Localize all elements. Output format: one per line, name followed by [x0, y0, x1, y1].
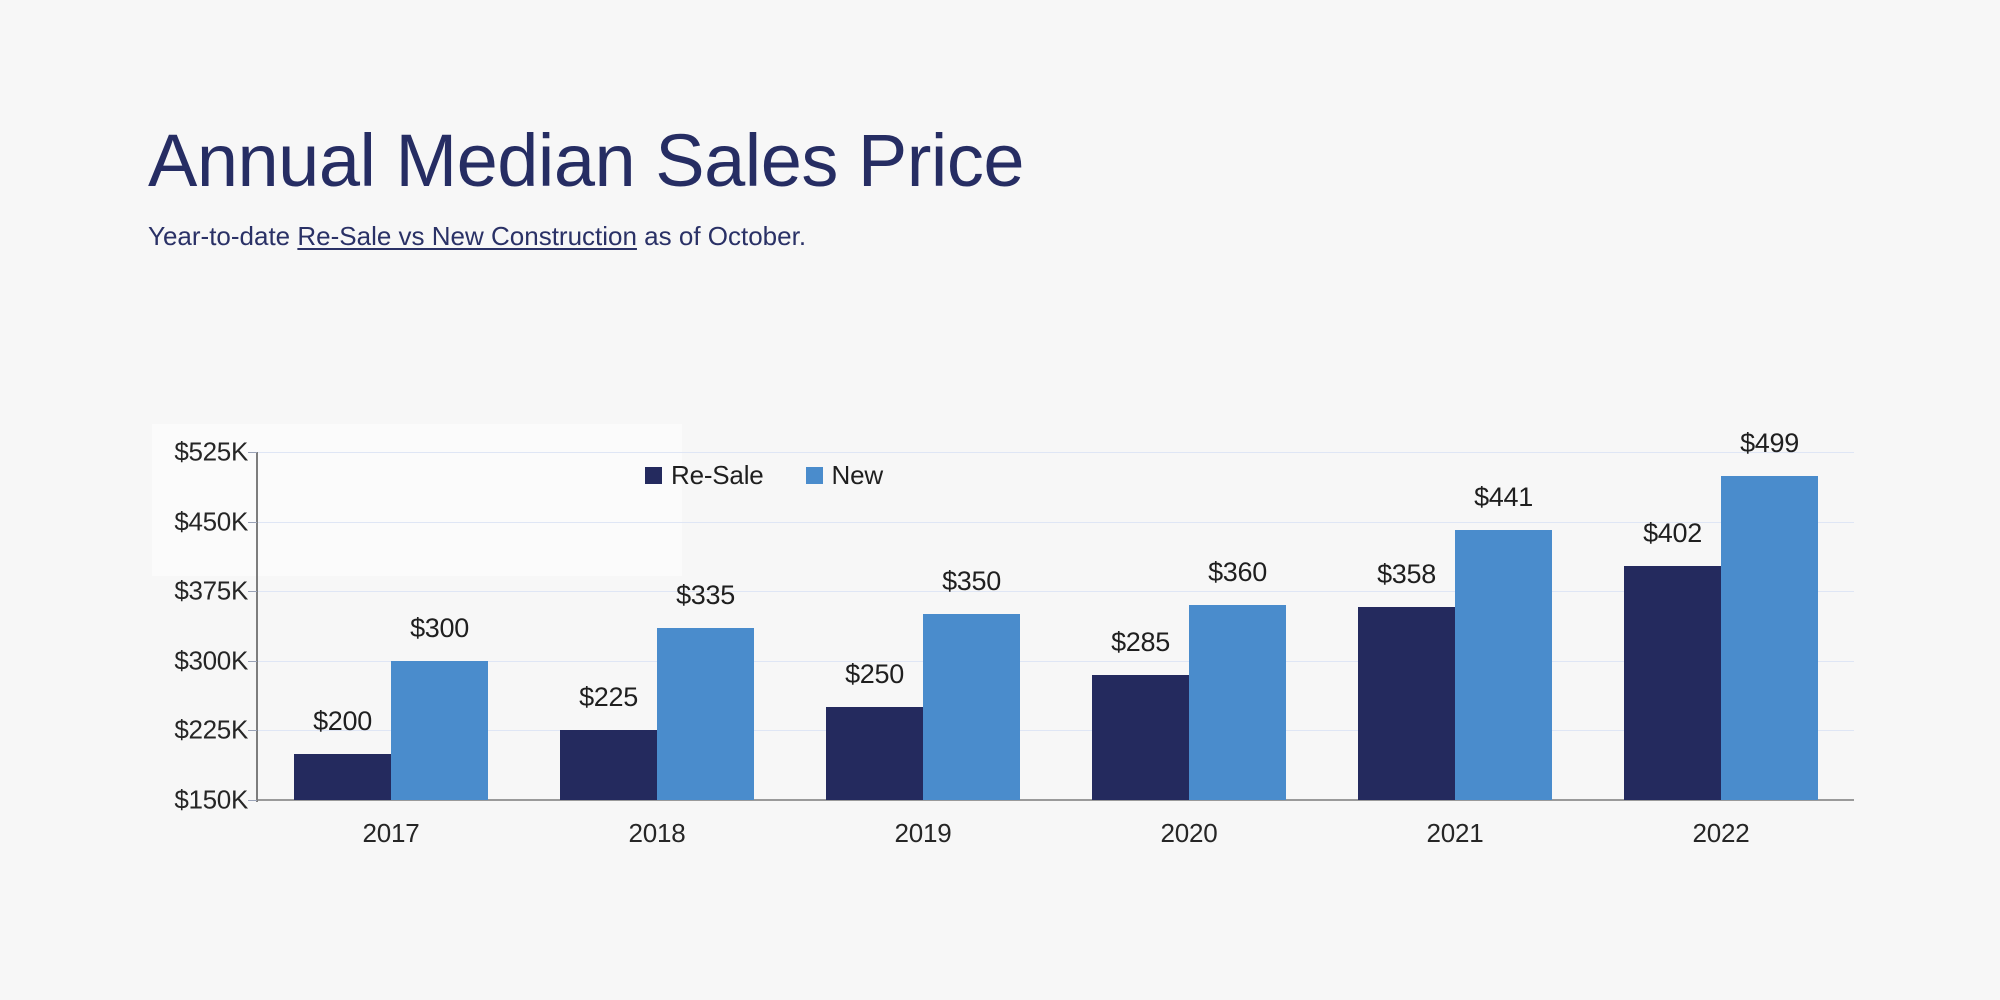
legend-label-new: New [832, 460, 883, 491]
bar-value-label: $335 [636, 580, 776, 611]
bar-new-2022[interactable] [1721, 476, 1818, 800]
y-axis-tickmark [248, 522, 257, 523]
bar-re-sale-2017[interactable] [294, 754, 391, 800]
x-axis-tick-label-2019: 2019 [843, 818, 1003, 849]
legend-item-new[interactable]: New [806, 460, 883, 491]
y-axis-tickmark [248, 591, 257, 592]
x-axis-tick-label-2021: 2021 [1375, 818, 1535, 849]
bar-new-2019[interactable] [923, 614, 1020, 800]
x-axis-tick-label-2020: 2020 [1109, 818, 1269, 849]
bar-re-sale-2018[interactable] [560, 730, 657, 800]
x-axis-tick-label-2017: 2017 [311, 818, 471, 849]
chart-page: Annual Median Sales Price Year-to-date R… [0, 0, 2000, 1000]
bar-re-sale-2019[interactable] [826, 707, 923, 800]
bar-value-label: $350 [902, 566, 1042, 597]
y-axis-tickmark [248, 452, 257, 453]
bar-value-label: $441 [1434, 482, 1574, 513]
bar-new-2017[interactable] [391, 661, 488, 800]
bar-re-sale-2021[interactable] [1358, 607, 1455, 800]
legend-swatch-resale-icon [645, 467, 662, 484]
x-axis-tick-label-2018: 2018 [577, 818, 737, 849]
y-axis-tickmark [248, 730, 257, 731]
bar-new-2021[interactable] [1455, 530, 1552, 800]
chart-plot-area: $150K$225K$300K$375K$450K$525K $200$3002… [0, 0, 2000, 1000]
bar-value-label: $499 [1700, 428, 1840, 459]
bar-re-sale-2020[interactable] [1092, 675, 1189, 800]
bars-layer: $200$3002017$225$3352018$250$3502019$285… [0, 0, 2000, 1000]
legend-label-resale: Re-Sale [671, 460, 764, 491]
bar-re-sale-2022[interactable] [1624, 566, 1721, 800]
legend-item-resale[interactable]: Re-Sale [645, 460, 764, 491]
y-axis-tickmark [248, 661, 257, 662]
bar-new-2020[interactable] [1189, 605, 1286, 800]
legend-swatch-new-icon [806, 467, 823, 484]
y-axis-tickmark [248, 800, 257, 801]
chart-legend: Re-Sale New [645, 460, 883, 491]
x-axis-tick-label-2022: 2022 [1641, 818, 1801, 849]
bar-new-2018[interactable] [657, 628, 754, 800]
bar-value-label: $300 [370, 613, 510, 644]
bar-value-label: $360 [1168, 557, 1308, 588]
